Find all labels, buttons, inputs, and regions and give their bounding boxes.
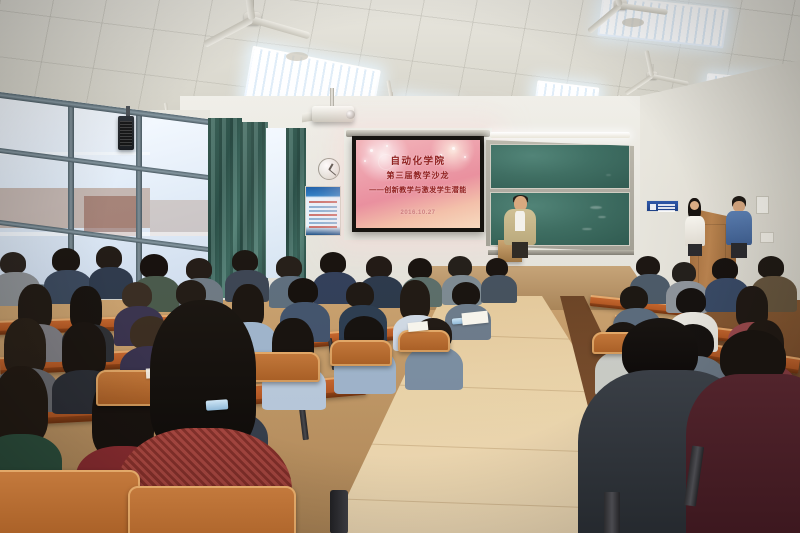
presentation-slide: 自动化学院 第三届教学沙龙 ——创新教学与激发学生潜能 2016.10.27 xyxy=(356,140,480,228)
projector-mount-pole xyxy=(330,88,334,108)
presenter xyxy=(503,196,537,258)
projector-lens-icon xyxy=(346,110,355,119)
slide-theme: ——创新教学与激发学生潜能 xyxy=(356,185,480,195)
wall-speaker xyxy=(118,116,134,150)
slide-title: 自动化学院 xyxy=(356,153,480,167)
flip-seat[interactable] xyxy=(398,330,450,352)
flip-seat[interactable] xyxy=(128,486,296,533)
projection-screen: 自动化学院 第三届教学沙龙 ——创新教学与激发学生潜能 2016.10.27 xyxy=(352,136,484,232)
slide-subtitle: 第三届教学沙龙 xyxy=(356,170,480,181)
wall-outlet xyxy=(760,232,774,243)
wall-poster xyxy=(305,186,341,236)
flip-seat[interactable] xyxy=(0,470,140,533)
ceiling-vent xyxy=(286,52,308,61)
smartphone[interactable] xyxy=(206,399,229,411)
blue-wall-sign xyxy=(646,200,679,212)
standing-man xyxy=(726,196,752,258)
lecture-hall-photo: 自动化学院 第三届教学沙龙 ——创新教学与激发学生潜能 2016.10.27 xyxy=(0,0,800,533)
wall-clock xyxy=(318,158,340,180)
standing-woman xyxy=(684,198,706,254)
seat-support xyxy=(330,490,348,533)
ceiling-vent xyxy=(622,18,644,27)
board-lamp xyxy=(490,132,630,138)
flip-seat[interactable] xyxy=(246,352,320,382)
slide-date: 2016.10.27 xyxy=(356,210,480,216)
flip-seat[interactable] xyxy=(330,340,392,366)
seat-support xyxy=(604,492,620,533)
wall-notice-card xyxy=(756,196,769,214)
